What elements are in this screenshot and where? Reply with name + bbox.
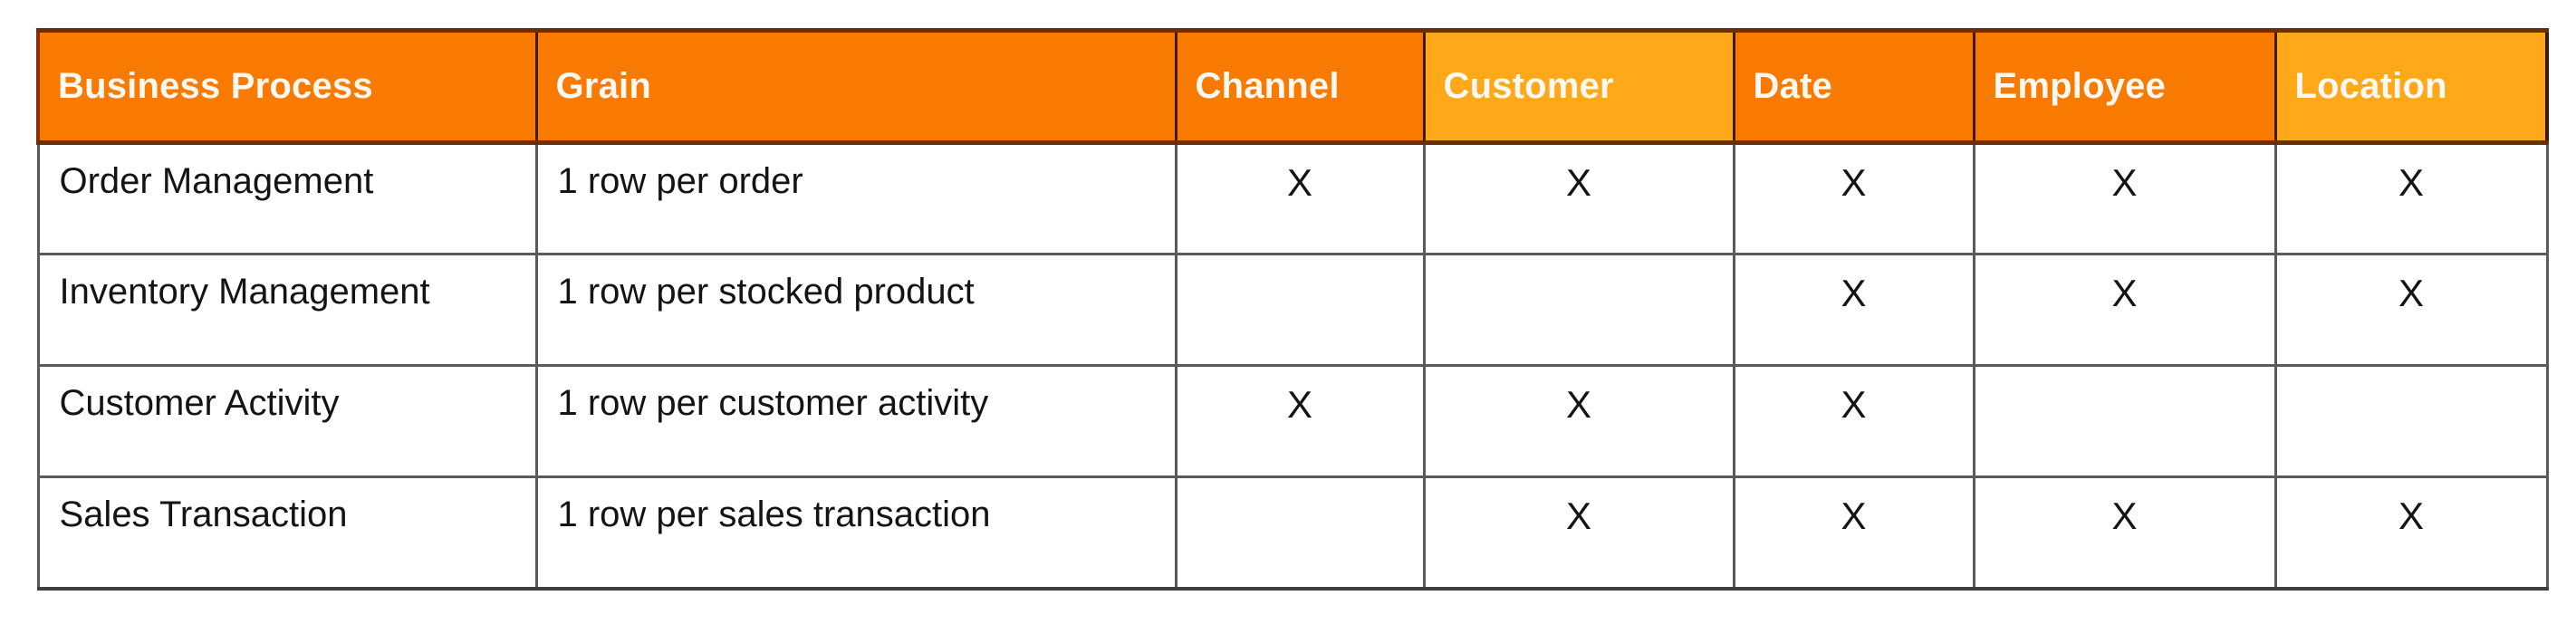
cell-employee-mark: X — [1974, 477, 2275, 589]
column-header-employee[interactable]: Employee — [1974, 31, 2275, 143]
cell-business-process: Order Management — [38, 143, 536, 255]
cell-channel-mark: X — [1176, 366, 1424, 477]
cell-date-mark: X — [1734, 477, 1974, 589]
table-body: Order Management 1 row per order X X X X… — [38, 143, 2547, 589]
cell-channel-mark — [1176, 255, 1424, 366]
column-header-location[interactable]: Location — [2275, 31, 2547, 143]
cell-employee-mark: X — [1974, 143, 2275, 255]
bus-matrix-canvas: Business Process Grain Channel Customer … — [0, 0, 2576, 634]
cell-location-mark — [2275, 366, 2547, 477]
cell-business-process: Customer Activity — [38, 366, 536, 477]
bus-matrix-table: Business Process Grain Channel Customer … — [36, 28, 2549, 591]
cell-date-mark: X — [1734, 366, 1974, 477]
cell-date-mark: X — [1734, 143, 1974, 255]
cell-grain: 1 row per customer activity — [536, 366, 1176, 477]
table-row: Order Management 1 row per order X X X X… — [38, 143, 2547, 255]
cell-channel-mark: X — [1176, 143, 1424, 255]
cell-location-mark: X — [2275, 143, 2547, 255]
cell-employee-mark: X — [1974, 255, 2275, 366]
cell-location-mark: X — [2275, 477, 2547, 589]
column-header-date[interactable]: Date — [1734, 31, 1974, 143]
cell-business-process: Sales Transaction — [38, 477, 536, 589]
cell-customer-mark: X — [1424, 143, 1734, 255]
cell-customer-mark: X — [1424, 366, 1734, 477]
cell-grain: 1 row per stocked product — [536, 255, 1176, 366]
cell-channel-mark — [1176, 477, 1424, 589]
cell-grain: 1 row per order — [536, 143, 1176, 255]
cell-date-mark: X — [1734, 255, 1974, 366]
table-row: Customer Activity 1 row per customer act… — [38, 366, 2547, 477]
column-header-grain[interactable]: Grain — [536, 31, 1176, 143]
table-header: Business Process Grain Channel Customer … — [38, 31, 2547, 143]
cell-employee-mark — [1974, 366, 2275, 477]
cell-customer-mark — [1424, 255, 1734, 366]
cell-business-process: Inventory Management — [38, 255, 536, 366]
table-row: Inventory Management 1 row per stocked p… — [38, 255, 2547, 366]
column-header-customer[interactable]: Customer — [1424, 31, 1734, 143]
table-row: Sales Transaction 1 row per sales transa… — [38, 477, 2547, 589]
column-header-business-process[interactable]: Business Process — [38, 31, 536, 143]
column-header-channel[interactable]: Channel — [1176, 31, 1424, 143]
cell-grain: 1 row per sales transaction — [536, 477, 1176, 589]
cell-customer-mark: X — [1424, 477, 1734, 589]
header-row: Business Process Grain Channel Customer … — [38, 31, 2547, 143]
cell-location-mark: X — [2275, 255, 2547, 366]
